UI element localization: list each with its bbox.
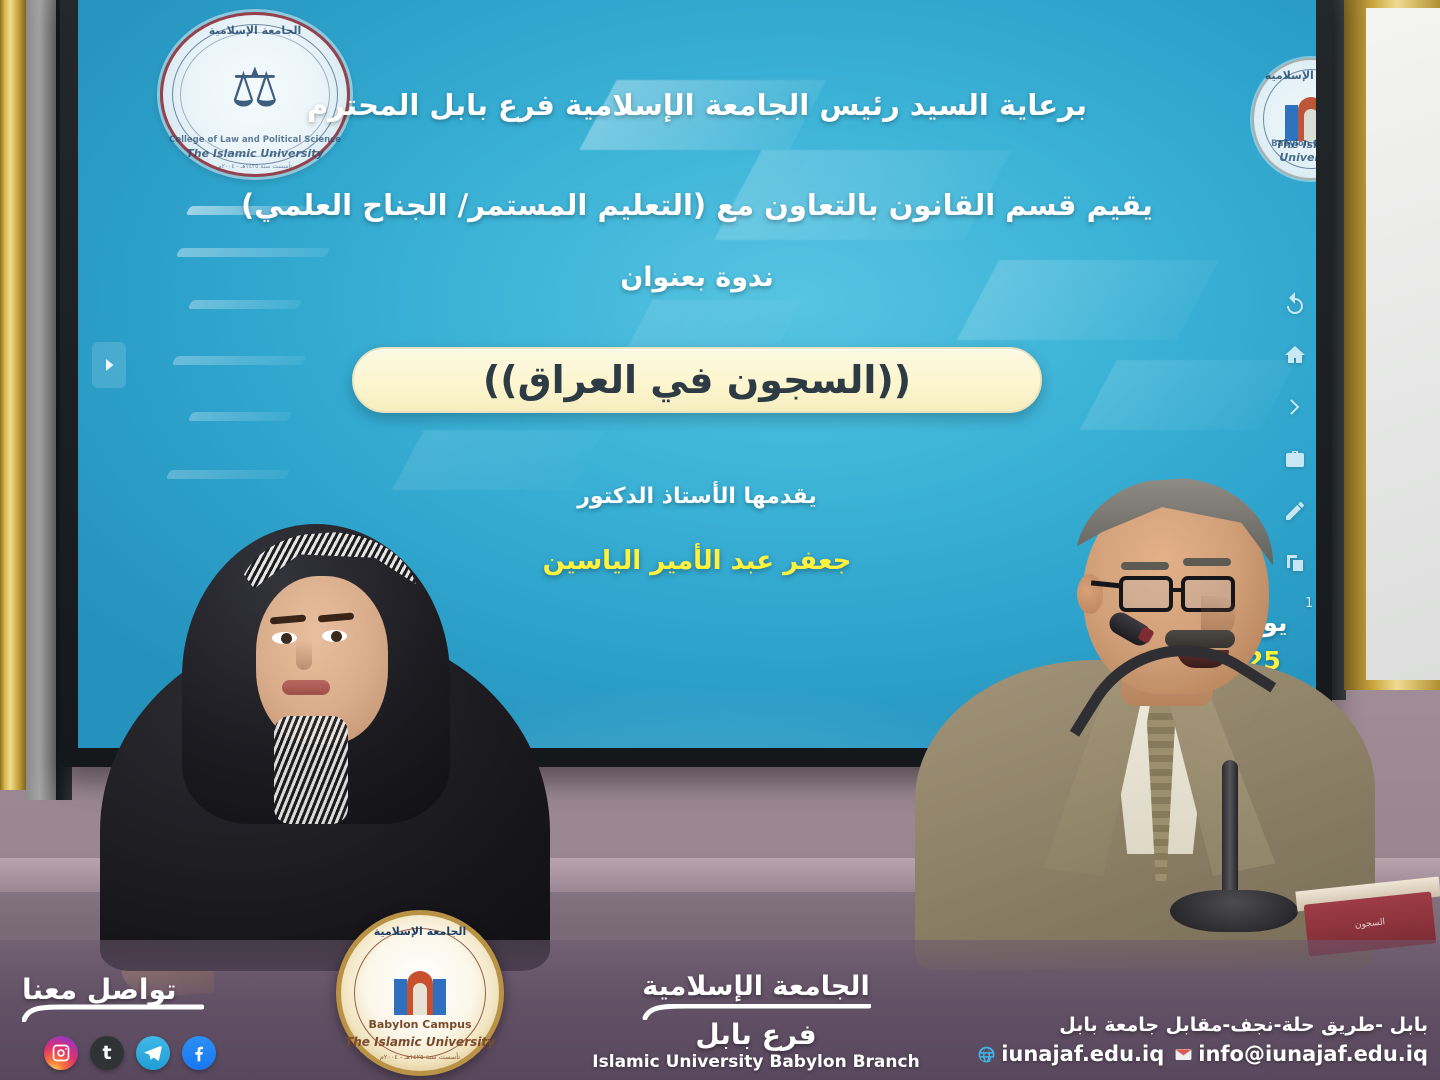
man-eyebrow-left <box>1121 562 1169 570</box>
contact-links-row[interactable]: iunajaf.edu.iq info@iunajaf.edu.iq <box>977 1042 1428 1066</box>
envelope-icon <box>1174 1045 1193 1064</box>
contact-block: بابل -طريق حلة-نجف-مقابل جامعة بابل iuna… <box>977 1014 1428 1066</box>
brand-branch-arabic: فرع بابل <box>576 1018 936 1051</box>
contact-address: بابل -طريق حلة-نجف-مقابل جامعة بابل <box>977 1014 1428 1036</box>
social-links[interactable]: t <box>44 1036 216 1070</box>
left-grey-frame-strip <box>26 0 56 800</box>
slide-bar <box>172 356 307 365</box>
man-eyeglasses-bridge <box>1171 588 1185 592</box>
gold-seal-campus-text: Babylon Campus <box>341 1018 499 1031</box>
undo-icon[interactable] <box>1280 288 1310 318</box>
toolbox-icon[interactable] <box>1280 444 1310 474</box>
bottom-banner: تواصل معنا t الجامعة الإسلامية <box>0 940 1440 1080</box>
banner-swoosh-underline <box>22 1004 204 1022</box>
globe-icon <box>977 1045 996 1064</box>
ishtar-gate-icon <box>394 971 446 1015</box>
seal-english-text: The Islamic University <box>163 147 347 160</box>
seal-arabic-text: الجامعة الإسلامية <box>163 24 347 37</box>
home-icon[interactable] <box>1280 340 1310 370</box>
slide-bar <box>188 300 303 309</box>
slide-title-text: ((السجون في العراق)) <box>483 358 911 402</box>
slide-line-3: ندوة بعنوان <box>78 262 1316 293</box>
gold-seal-date-text: تأسست سنة ١٤٢٥هـ - ٢٠٠٤م <box>341 1053 499 1061</box>
slide-next-chevron-button[interactable] <box>92 342 126 388</box>
brand-block: الجامعة الإسلامية فرع بابل Islamic Unive… <box>576 971 936 1072</box>
website-link[interactable]: iunajaf.edu.iq <box>977 1042 1164 1066</box>
tiktok-icon-label: t <box>102 1042 111 1064</box>
slide-bar <box>176 248 331 257</box>
connect-with-us-label: تواصل معنا <box>22 973 177 1006</box>
microphone-stem <box>1222 760 1238 900</box>
slide-title-box: ((السجون في العراق)) <box>352 347 1042 413</box>
brand-arabic-title: الجامعة الإسلامية <box>576 971 936 1002</box>
website-text: iunajaf.edu.iq <box>1001 1042 1164 1066</box>
slide-shape <box>392 430 604 490</box>
gold-seal-arabic-text: الجامعة الإسلامية <box>341 925 499 938</box>
seal-date-text: تأسست سنة ١٤٢٥هـ - ٢٠٠٤م <box>163 163 347 170</box>
slide-bar <box>188 412 293 421</box>
telegram-icon[interactable] <box>136 1036 170 1070</box>
slide-line-1: برعاية السيد رئيس الجامعة الإسلامية فرع … <box>78 88 1316 122</box>
slide-bar <box>166 470 291 479</box>
woman-nose <box>296 640 312 670</box>
seal-english-text: The Islamic University <box>1254 138 1316 164</box>
woman-mouth <box>282 680 330 695</box>
microphone-base <box>1170 890 1298 932</box>
instagram-icon[interactable] <box>44 1036 78 1070</box>
screenshot-root: الجامعة الإسلامية ⚖ College of Law and P… <box>0 0 1440 1080</box>
islamic-university-babylon-gold-seal: الجامعة الإسلامية Babylon Campus The Isl… <box>336 910 504 1076</box>
slide-line-2: يقيم قسم القانون بالتعاون مع (التعليم ال… <box>78 188 1316 222</box>
brand-english-title: Islamic University Babylon Branch <box>576 1052 936 1072</box>
seal-subtitle: College of Law and Political Science <box>163 135 347 145</box>
woman-neck-scarf <box>274 716 348 824</box>
seal-arabic-text: الجامعة الإسلامية <box>1254 69 1316 82</box>
man-ear <box>1077 574 1103 614</box>
gold-seal-english-text: The Islamic University <box>341 1035 499 1049</box>
slide-shape <box>1079 360 1296 430</box>
email-link[interactable]: info@iunajaf.edu.iq <box>1174 1042 1428 1066</box>
left-gold-frame-strip <box>0 0 26 790</box>
man-eyebrow-right <box>1183 558 1231 566</box>
seated-woman <box>60 508 580 968</box>
email-text: info@iunajaf.edu.iq <box>1198 1042 1428 1066</box>
chevron-right-icon[interactable] <box>1280 392 1310 422</box>
tiktok-icon[interactable]: t <box>90 1036 124 1070</box>
facebook-icon[interactable] <box>182 1036 216 1070</box>
man-eyeglasses-left-lens <box>1119 576 1173 612</box>
